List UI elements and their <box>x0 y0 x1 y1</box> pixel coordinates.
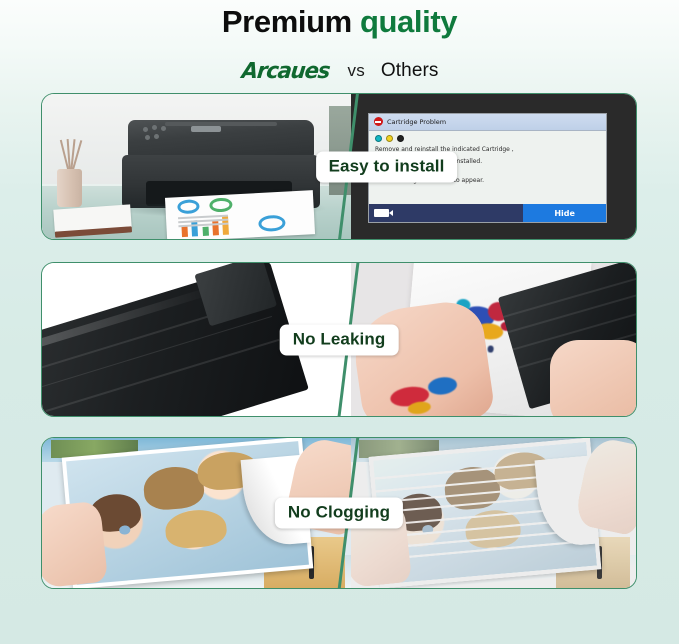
chart-bar <box>181 226 188 238</box>
chart-donut <box>177 200 200 215</box>
black-ink-icon <box>397 135 404 142</box>
comparison-panel-no-clogging: No Clogging <box>41 437 637 589</box>
stop-sign-icon <box>374 117 383 126</box>
chart-donut <box>209 198 232 213</box>
printer-button <box>145 135 150 140</box>
comparison-panel-easy-to-install: Cartridge Problem Remove and reinstall t… <box>41 93 637 240</box>
others-label: Others <box>381 60 439 82</box>
printer-button <box>161 126 166 131</box>
page-title-accent: quality <box>360 4 457 39</box>
ink-blot <box>488 345 494 352</box>
header: Premium quality Arcaues vs Others <box>0 0 679 86</box>
comparison-panel-no-leaking: No Leaking <box>41 262 637 417</box>
brand-logo: Arcaues <box>241 59 331 84</box>
yellow-ink-icon <box>386 135 393 142</box>
chart-bar <box>212 221 219 236</box>
page-title: Premium quality <box>0 2 679 42</box>
reed-diffuser <box>54 132 84 213</box>
shirt <box>118 525 130 535</box>
shirt <box>421 525 432 535</box>
page-title-main: Premium <box>222 4 352 39</box>
chart-bar <box>191 220 198 237</box>
printer-button <box>154 134 159 139</box>
supporting-hand <box>550 340 636 417</box>
hair <box>164 507 228 549</box>
panel-1-left-image <box>42 94 351 239</box>
panel-1-badge: Easy to install <box>316 151 458 182</box>
video-camera-icon[interactable] <box>374 209 389 217</box>
ink-status-icons <box>375 135 600 142</box>
chart-bar <box>202 227 208 236</box>
panel-3-badge: No Clogging <box>275 498 403 529</box>
diffuser-jar <box>57 169 82 207</box>
dialog-footer: Hide <box>369 204 606 222</box>
vs-label: vs <box>348 61 365 81</box>
chart-bar <box>222 216 229 235</box>
printer-control-buttons <box>143 125 191 133</box>
dialog-title: Cartridge Problem <box>387 118 446 126</box>
hand-holding-photo <box>42 501 108 588</box>
hair <box>141 464 205 511</box>
printer-display <box>191 126 221 132</box>
hide-button[interactable]: Hide <box>523 204 607 222</box>
desk-notebook <box>54 204 133 233</box>
panel-2-badge: No Leaking <box>280 324 399 355</box>
printed-chart-sheet <box>165 190 315 239</box>
ink-cartridge <box>42 263 309 416</box>
cyan-ink-icon <box>375 135 382 142</box>
chart-text-lines <box>177 215 227 220</box>
printer-top-cover <box>128 120 314 158</box>
dialog-title-bar: Cartridge Problem <box>369 114 606 131</box>
hair <box>442 465 501 512</box>
printer-button <box>143 127 148 132</box>
ink-stained-hand <box>351 297 495 416</box>
printer-desk-scene <box>42 94 351 239</box>
hair <box>463 508 522 550</box>
comparison-heading: Arcaues vs Others <box>0 56 679 86</box>
chart-donut <box>257 214 284 232</box>
printer-button <box>152 125 157 130</box>
ink-stain <box>427 375 458 396</box>
